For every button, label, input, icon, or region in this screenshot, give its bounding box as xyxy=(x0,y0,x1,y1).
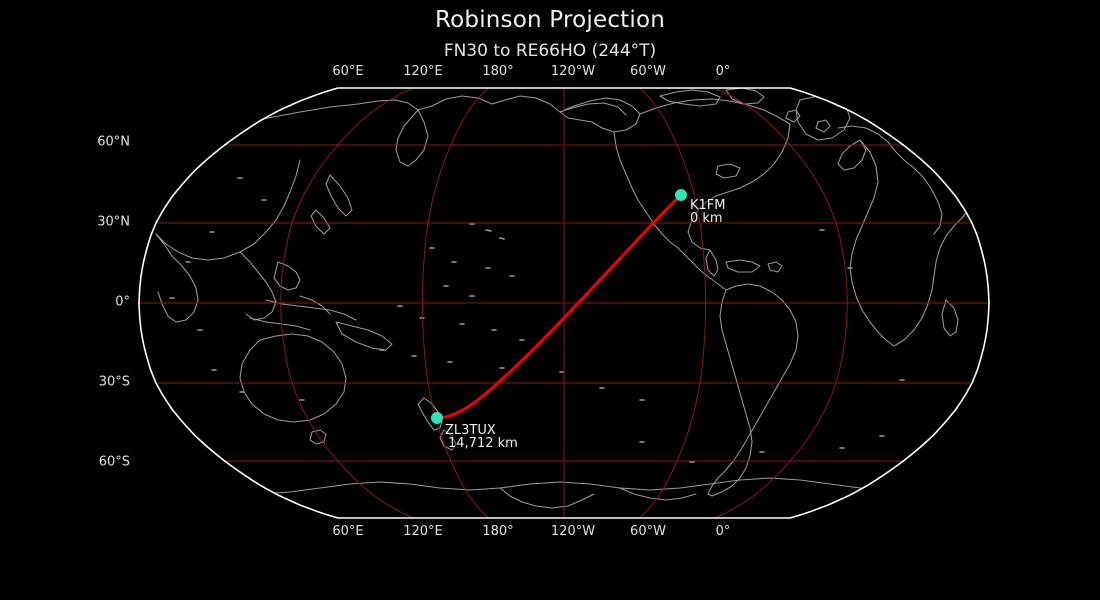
station-distance-label: 14,712 km xyxy=(448,436,518,451)
lon-tick-label: 120°E xyxy=(403,524,443,539)
lon-tick-label: 0° xyxy=(716,64,731,79)
robinson-map xyxy=(0,0,1100,600)
lat-tick-label: 60°S xyxy=(99,455,130,470)
lon-tick-label: 120°W xyxy=(551,64,595,79)
lon-tick-label: 60°W xyxy=(630,524,666,539)
lat-tick-label: 60°N xyxy=(97,135,130,150)
lon-tick-label: 0° xyxy=(716,524,731,539)
lon-tick-label: 120°W xyxy=(551,524,595,539)
lon-tick-label: 60°E xyxy=(332,524,363,539)
lon-tick-label: 180° xyxy=(482,64,513,79)
lat-tick-label: 0° xyxy=(115,295,130,310)
station-marker[interactable] xyxy=(675,189,687,201)
lon-tick-label: 60°W xyxy=(630,64,666,79)
lon-tick-label: 180° xyxy=(482,524,513,539)
lat-tick-label: 30°S xyxy=(99,375,130,390)
station-marker[interactable] xyxy=(431,412,443,424)
figure-canvas: Robinson Projection FN30 to RE66HO (244°… xyxy=(0,0,1100,600)
lon-tick-label: 60°E xyxy=(332,64,363,79)
station-distance-label: 0 km xyxy=(690,211,723,226)
lat-tick-label: 30°N xyxy=(97,215,130,230)
lon-tick-label: 120°E xyxy=(403,64,443,79)
